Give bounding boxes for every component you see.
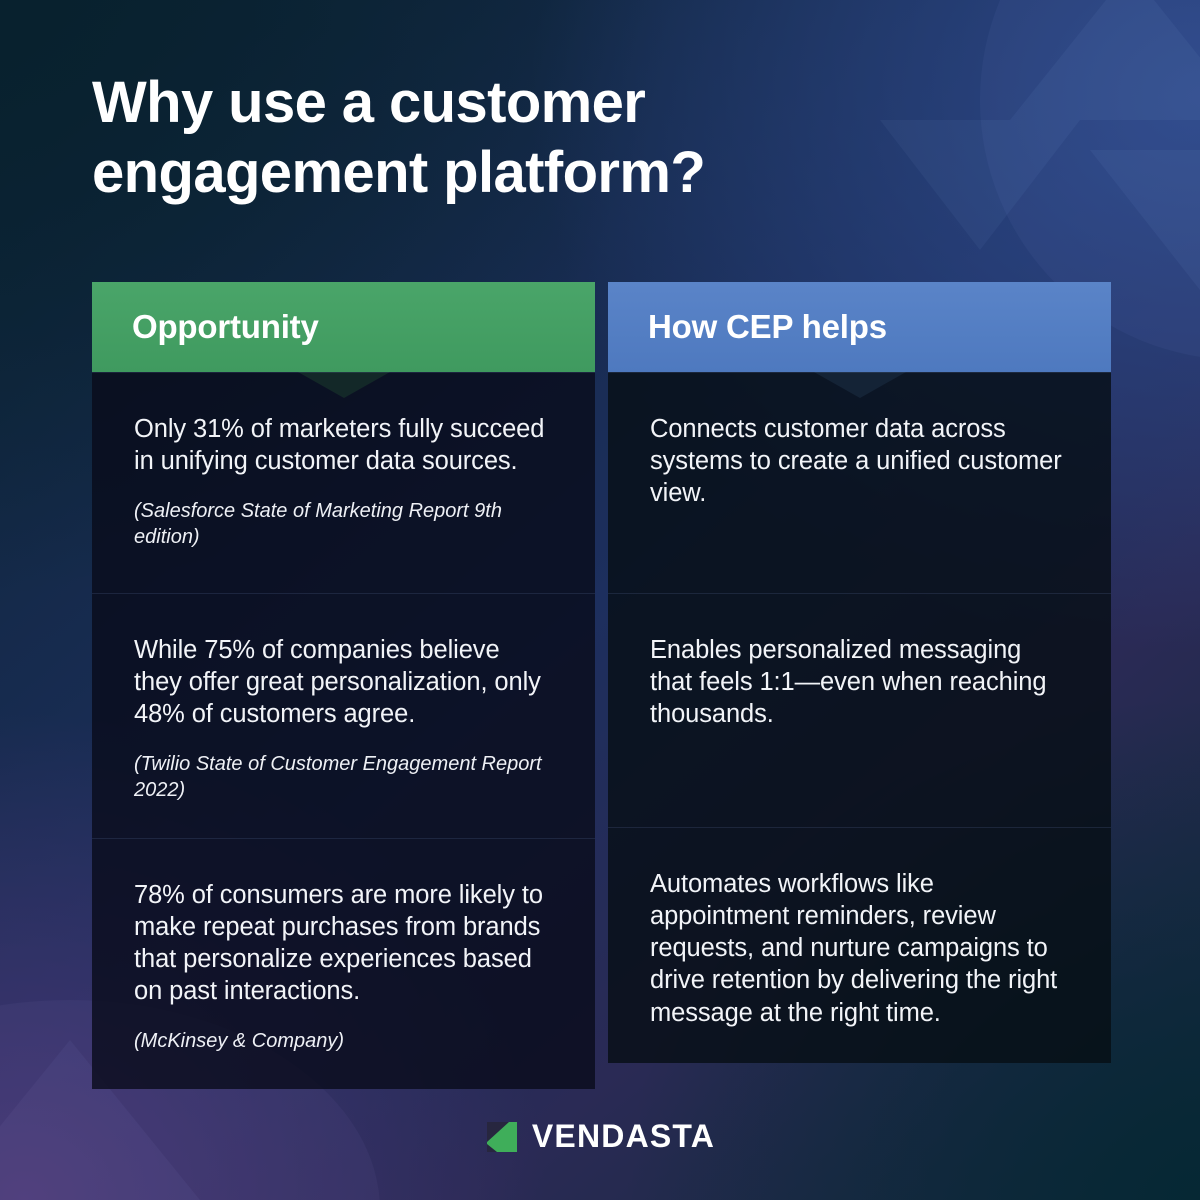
cell-text: Only 31% of marketers fully succeed in u… [134, 413, 553, 477]
background-triangle-decoration [1090, 150, 1200, 290]
column-header-label: Opportunity [132, 308, 319, 346]
table-cell: While 75% of companies believe they offe… [92, 593, 595, 838]
column-header-opportunity: Opportunity [92, 282, 595, 372]
infographic-canvas: Why use a customer engagement platform? … [0, 0, 1200, 1200]
page-title: Why use a customer engagement platform? [92, 68, 952, 208]
table-cell: Only 31% of marketers fully succeed in u… [92, 372, 595, 593]
footer-branding: VENDASTA [0, 1118, 1200, 1155]
column-header-label: How CEP helps [648, 308, 887, 346]
background-triangle-decoration [1010, 0, 1200, 120]
cell-text: 78% of consumers are more likely to make… [134, 879, 553, 1008]
table-cell: Automates workflows like appointment rem… [608, 827, 1111, 1063]
table-column-how-cep-helps: How CEP helps Connects customer data acr… [608, 282, 1111, 1089]
brand-wordmark: VENDASTA [532, 1118, 715, 1155]
cell-text: While 75% of companies believe they offe… [134, 634, 553, 730]
comparison-table: Opportunity Only 31% of marketers fully … [92, 282, 1112, 1089]
cell-source: (Twilio State of Customer Engagement Rep… [134, 752, 553, 803]
table-cell: Connects customer data across systems to… [608, 372, 1111, 593]
cell-text: Enables personalized messaging that feel… [650, 634, 1069, 730]
cell-source: (Salesforce State of Marketing Report 9t… [134, 499, 553, 550]
column-header-how-cep-helps: How CEP helps [608, 282, 1111, 372]
cell-text: Connects customer data across systems to… [650, 413, 1069, 509]
table-column-opportunity: Opportunity Only 31% of marketers fully … [92, 282, 595, 1089]
table-cell: 78% of consumers are more likely to make… [92, 838, 595, 1089]
cell-text: Automates workflows like appointment rem… [650, 868, 1069, 1029]
cell-source: (McKinsey & Company) [134, 1029, 553, 1055]
vendasta-mark-icon [485, 1120, 519, 1154]
table-cell: Enables personalized messaging that feel… [608, 593, 1111, 827]
